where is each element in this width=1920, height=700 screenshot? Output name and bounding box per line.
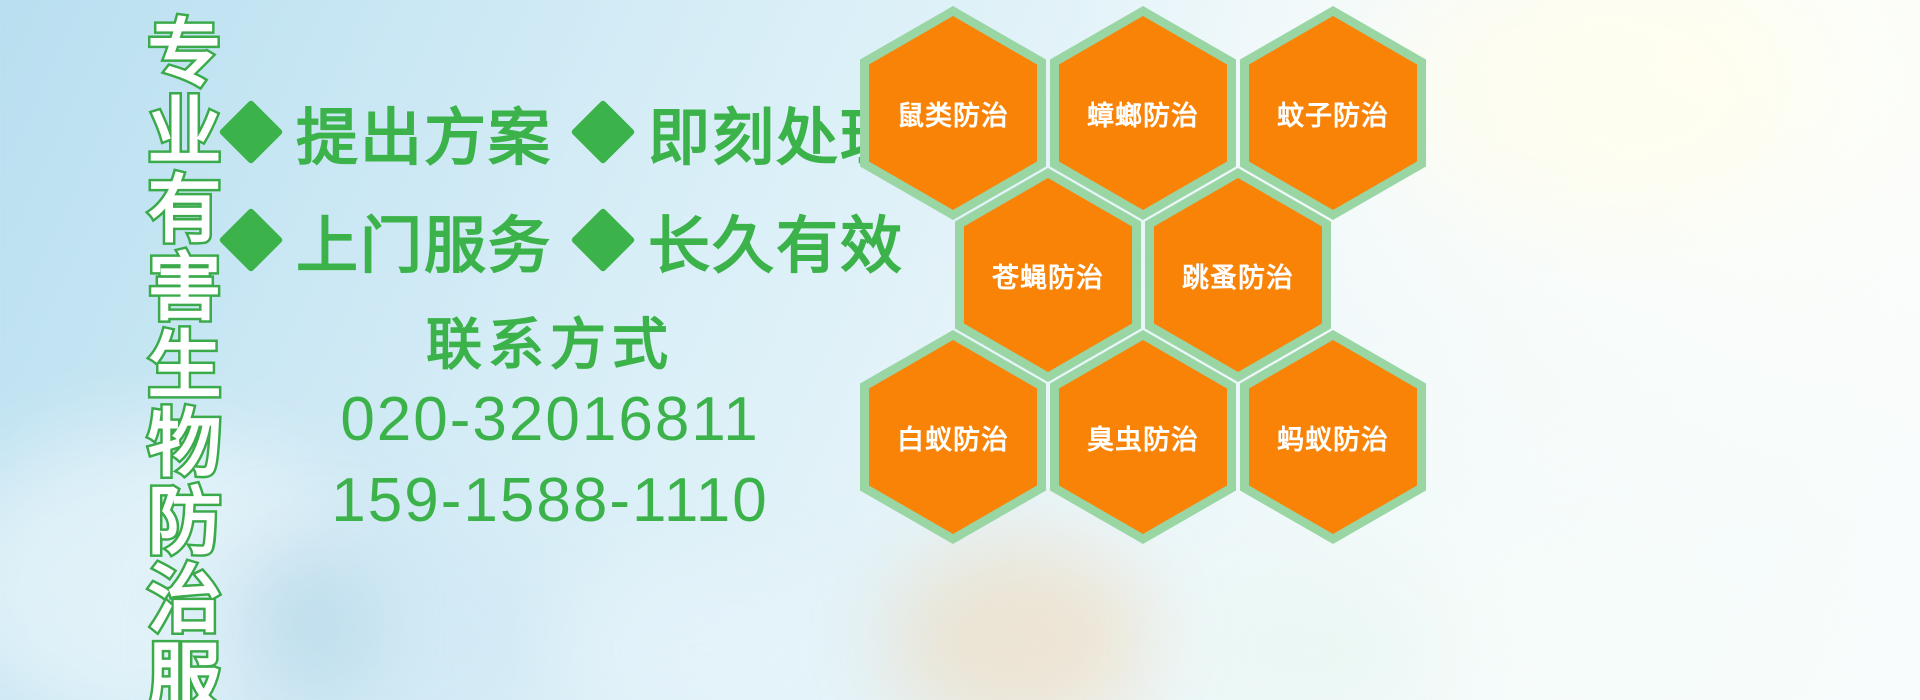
diamond-icon <box>570 99 635 164</box>
hex-label: 臭虫防治 <box>1087 418 1199 457</box>
hex-inner: 蚂蚁防治 <box>1249 340 1417 534</box>
hex-label: 蚂蚁防治 <box>1277 418 1389 457</box>
hex-inner: 苍蝇防治 <box>964 178 1132 372</box>
hex-inner: 臭虫防治 <box>1059 340 1227 534</box>
diamond-icon <box>570 207 635 272</box>
diamond-icon <box>218 207 283 272</box>
background-blob <box>250 545 370 695</box>
hex-inner: 白蚁防治 <box>869 340 1037 534</box>
background-blob <box>560 560 860 700</box>
contact-block: 联系方式 020-32016811 159-1588-1110 <box>240 310 860 541</box>
hex-label: 蚊子防治 <box>1277 94 1389 133</box>
slogan-row: 上门服务 长久有效 <box>228 186 878 294</box>
background-blob <box>200 520 560 700</box>
hex-inner: 蟑螂防治 <box>1059 16 1227 210</box>
slogan-item-3: 上门服务 <box>296 195 552 285</box>
service-hexagon-grid: 鼠类防治 蟑螂防治 蚊子防治 苍蝇防治 跳蚤防治 白蚁防治 臭虫防治 蚂蚁防治 <box>860 0 1460 580</box>
diamond-icon <box>218 99 283 164</box>
hex-label: 跳蚤防治 <box>1182 256 1294 295</box>
hex-inner: 跳蚤防治 <box>1154 178 1322 372</box>
slogan-block: 提出方案 即刻处理 上门服务 长久有效 <box>228 78 878 294</box>
hex-inner: 蚊子防治 <box>1249 16 1417 210</box>
hex-label: 苍蝇防治 <box>992 256 1104 295</box>
slogan-row: 提出方案 即刻处理 <box>228 78 878 186</box>
background-blob <box>1180 560 1440 700</box>
hex-label: 白蚁防治 <box>897 418 1009 457</box>
hex-inner: 鼠类防治 <box>869 16 1037 210</box>
phone-number-landline[interactable]: 020-32016811 <box>240 380 860 461</box>
phone-number-mobile[interactable]: 159-1588-1110 <box>240 461 860 542</box>
hex-label: 鼠类防治 <box>897 94 1009 133</box>
hex-label: 蟑螂防治 <box>1087 94 1199 133</box>
slogan-item-1: 提出方案 <box>296 87 552 177</box>
vertical-title: 专业有害生物防治服务 <box>108 14 218 700</box>
contact-title: 联系方式 <box>240 310 860 380</box>
